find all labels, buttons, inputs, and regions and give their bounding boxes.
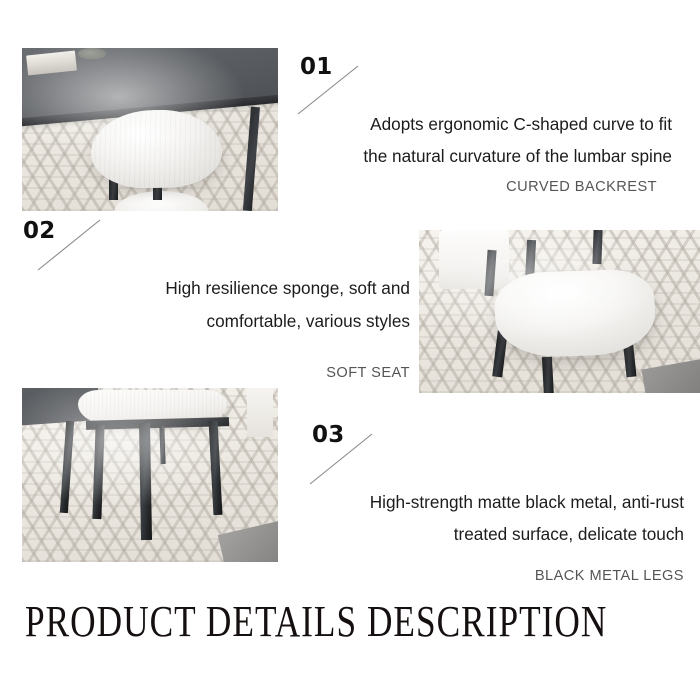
feature-divider-line-01: [296, 64, 360, 116]
feature-description-line-03a: High-strength matte black metal, anti-ru…: [370, 494, 684, 511]
feature-caption-03: BLACK METAL LEGS: [535, 569, 684, 584]
page-title: PRODUCT DETAILS DESCRIPTION: [25, 600, 607, 645]
feature-caption-01: CURVED BACKREST: [506, 180, 657, 195]
feature-image-curved-backrest: [22, 48, 278, 211]
feature-description-line-01a: Adopts ergonomic C-shaped curve to fit: [370, 116, 672, 133]
feature-image-black-metal-legs: [22, 388, 278, 562]
feature-description-line-01b: the natural curvature of the lumbar spin…: [363, 148, 672, 165]
product-details-page: 01 Adopts ergonomic C-shaped curve to fi…: [0, 0, 700, 700]
feature-divider-line-03: [308, 432, 374, 486]
feature-description-line-03b: treated surface, delicate touch: [454, 526, 684, 543]
feature-caption-02: SOFT SEAT: [326, 366, 410, 381]
feature-description-line-02a: High resilience sponge, soft and: [165, 280, 410, 297]
photo-highlight: [22, 388, 278, 562]
photo-highlight: [419, 230, 700, 393]
photo-highlight: [22, 48, 278, 211]
feature-divider-line-02: [36, 218, 102, 272]
feature-image-soft-seat: [419, 230, 700, 393]
feature-description-line-02b: comfortable, various styles: [207, 313, 410, 330]
